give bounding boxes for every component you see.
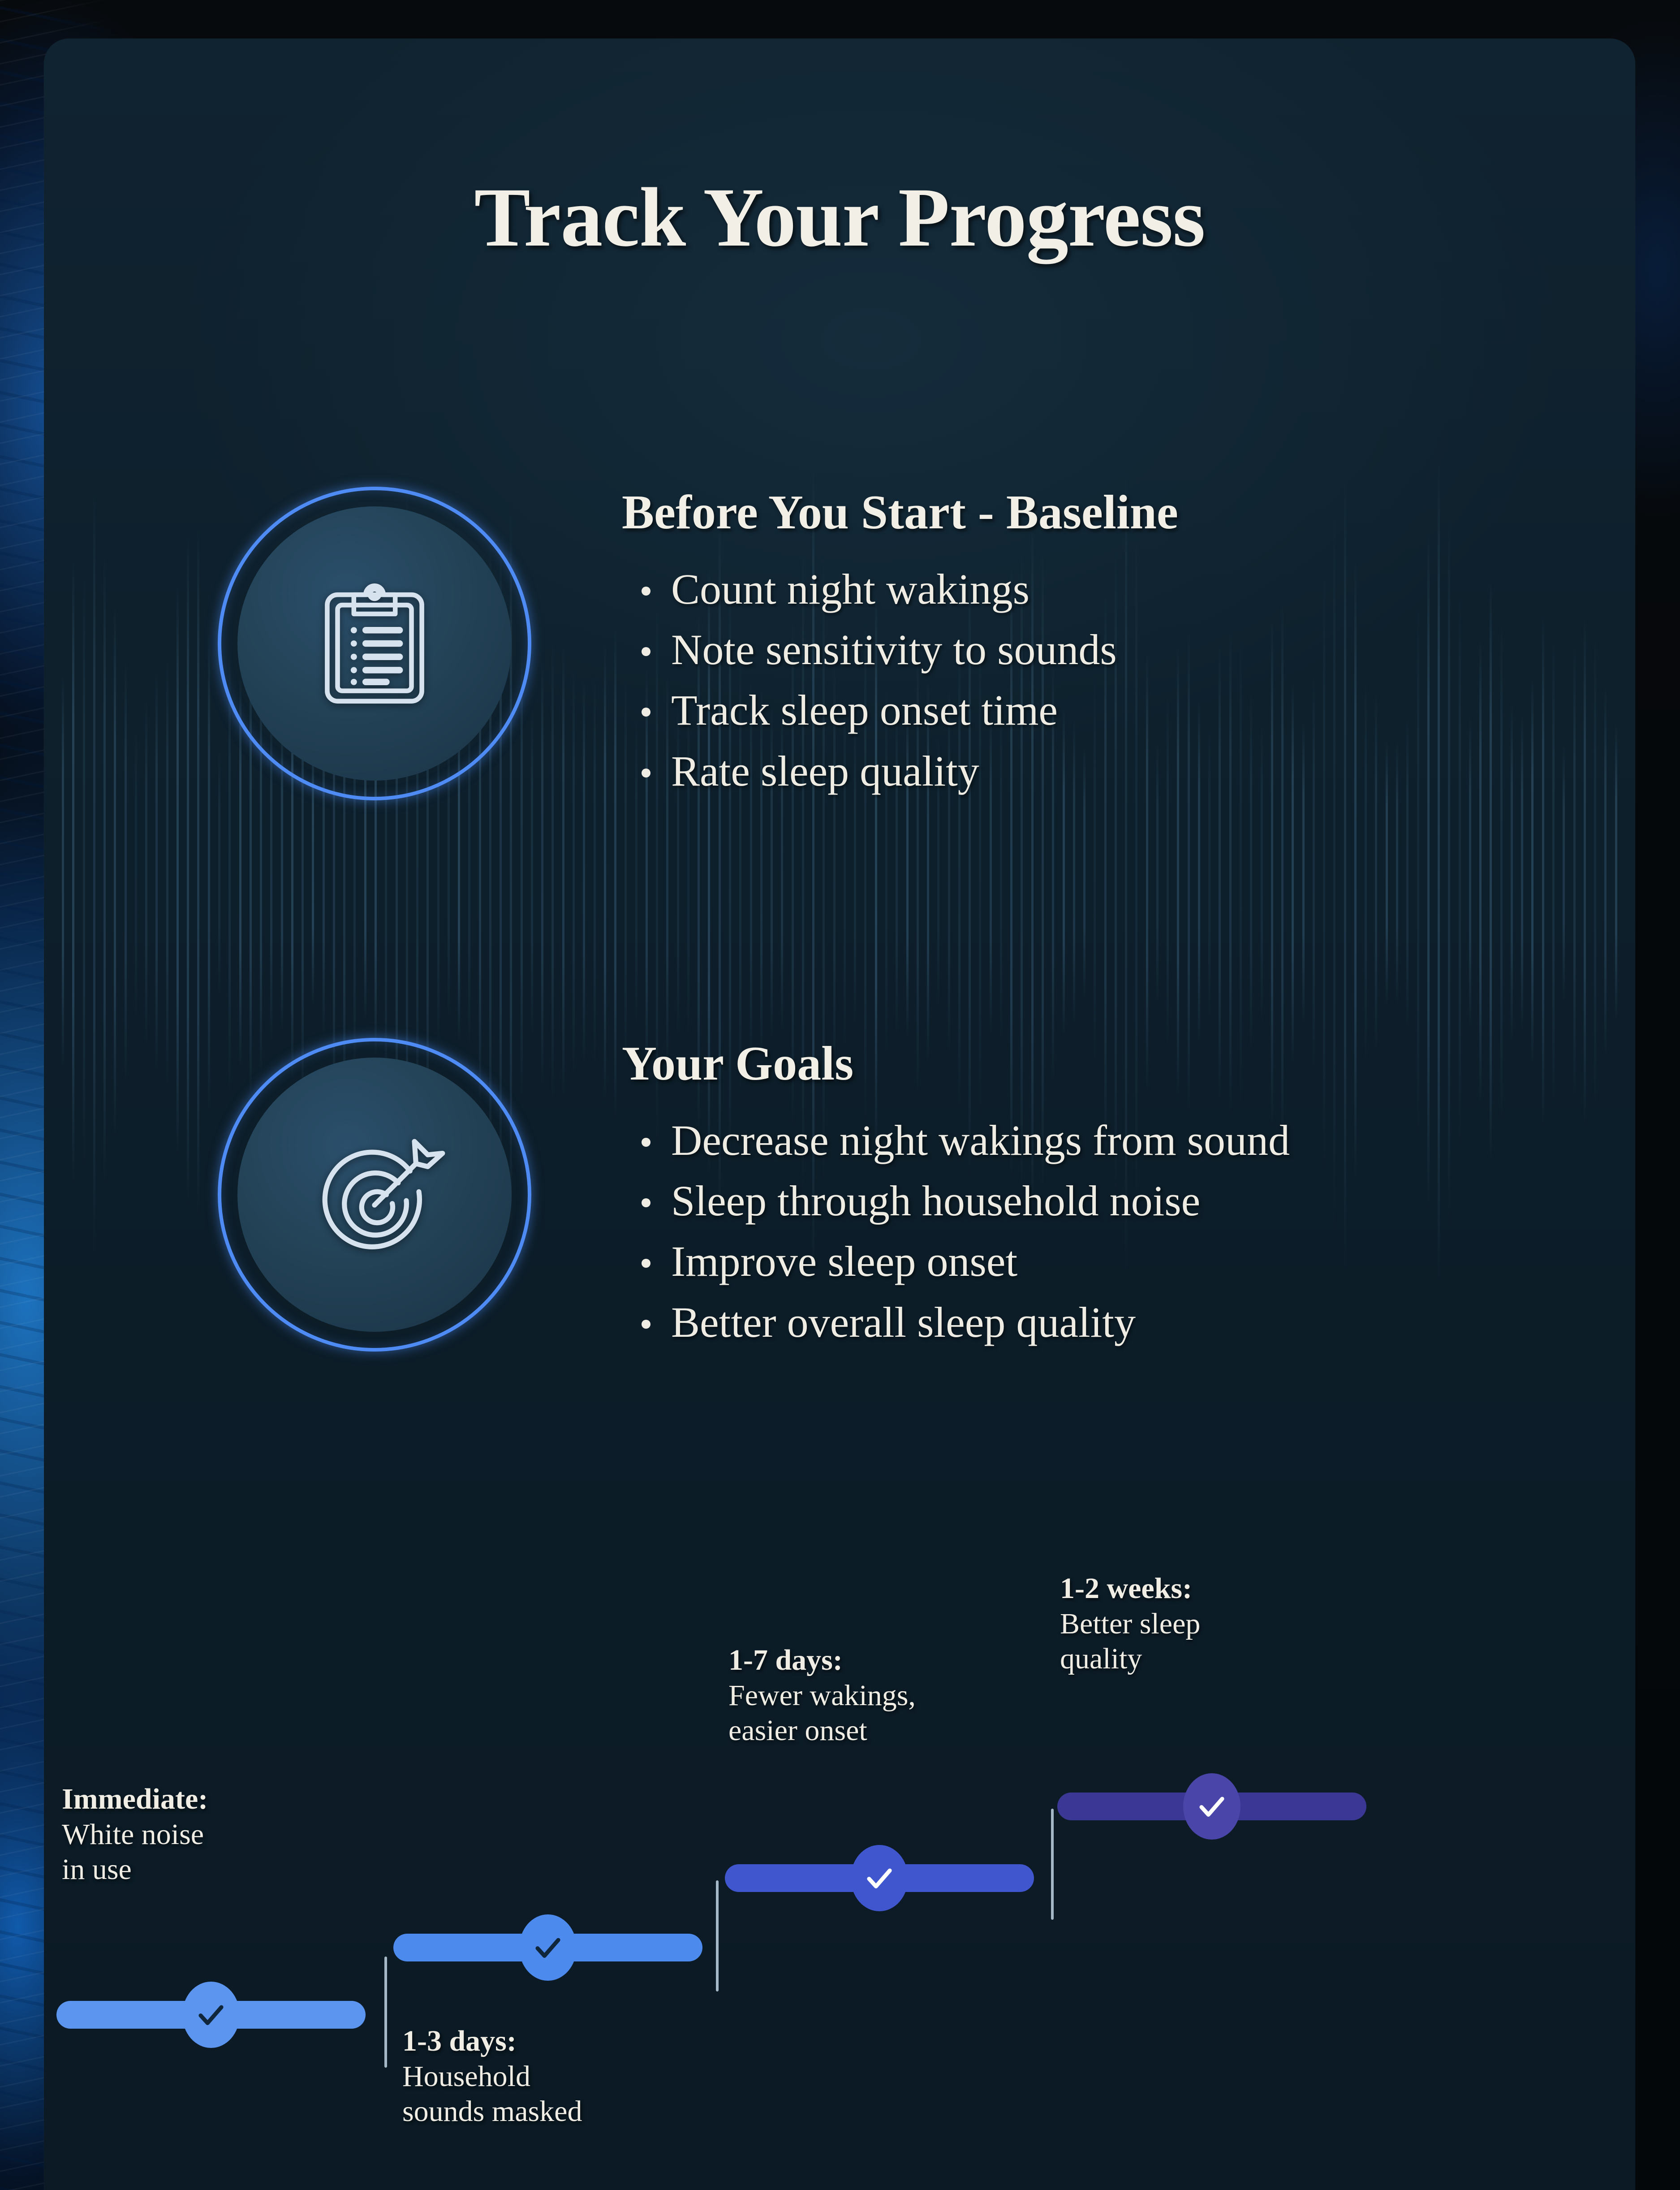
waveform-bar (125, 657, 127, 1087)
goals-icon-badge (218, 1038, 531, 1352)
progress-timeline: Immediate:White noisein use1-3 days:Hous… (44, 1495, 1635, 2078)
list-item: Rate sleep quality (622, 741, 1550, 801)
timeline-step-description: sounds masked (402, 2094, 582, 2130)
list-item: Improve sleep onset (622, 1231, 1550, 1292)
goals-heading: Your Goals (622, 1038, 1550, 1090)
waveform-bar (562, 643, 564, 1101)
waveform-bar (135, 720, 137, 1024)
list-item: Better overall sleep quality (622, 1292, 1550, 1352)
waveform-bar (1594, 630, 1596, 1114)
timeline-connector (384, 1957, 387, 2068)
timeline-step[interactable] (1057, 1773, 1366, 1840)
page-title: Track Your Progress (44, 168, 1635, 266)
check-icon (863, 1862, 896, 1895)
waveform-bar (573, 662, 575, 1082)
timeline-check-badge (182, 1982, 240, 2048)
waveform-bar (187, 532, 189, 1212)
list-item: Count night wakings (622, 559, 1550, 619)
timeline-check-badge (519, 1914, 577, 1981)
clipboard-checklist-icon (218, 487, 531, 800)
list-item: Sleep through household noise (622, 1171, 1550, 1231)
timeline-step-label: 1-7 days:Fewer wakings,easier onset (728, 1643, 916, 1749)
timeline-step[interactable] (725, 1844, 1034, 1912)
waveform-bar (114, 603, 116, 1141)
waveform-bar (594, 671, 596, 1073)
timeline-step-description: easier onset (728, 1713, 916, 1749)
list-item: Decrease night wakings from sound (622, 1110, 1550, 1171)
target-arrow-icon (218, 1038, 531, 1352)
timeline-step-term: 1-2 weeks: (1060, 1571, 1200, 1607)
timeline-step[interactable] (393, 1914, 702, 1981)
waveform-bar (1552, 636, 1555, 1108)
infographic-card: Track Your Progress (44, 39, 1635, 2190)
waveform-bar (177, 584, 179, 1160)
timeline-step-description: Household (402, 2059, 582, 2095)
timeline-step-description: in use (62, 1852, 208, 1888)
waveform-bar (604, 641, 606, 1103)
baseline-list: Count night wakings Note sensitivity to … (622, 559, 1550, 801)
timeline-step-term: 1-3 days: (402, 2024, 582, 2059)
waveform-bar (197, 523, 199, 1221)
waveform-bar (166, 654, 168, 1091)
timeline-check-badge (851, 1845, 908, 1911)
waveform-bar (208, 629, 210, 1115)
waveform-bar (72, 556, 74, 1188)
timeline-step[interactable] (56, 1981, 366, 2048)
list-item: Track sleep onset time (622, 680, 1550, 740)
waveform-bar (1563, 742, 1565, 1002)
waveform-bar (62, 673, 64, 1072)
timeline-step-label: 1-3 days:Householdsounds masked (402, 2024, 582, 2130)
waveform-bar (1615, 721, 1617, 1023)
waveform-bar (155, 667, 158, 1077)
waveform-bar (583, 677, 585, 1067)
timeline-step-description: White noise (62, 1817, 208, 1853)
timeline-step-label: 1-2 weeks:Better sleepquality (1060, 1571, 1200, 1677)
waveform-bar (145, 694, 147, 1050)
timeline-step-term: 1-7 days: (728, 1643, 916, 1678)
waveform-bar (1604, 684, 1607, 1060)
waveform-bar (551, 638, 554, 1106)
timeline-step-label: Immediate:White noisein use (62, 1782, 208, 1888)
timeline-step-term: Immediate: (62, 1782, 208, 1817)
timeline-step-description: Better sleep (1060, 1607, 1200, 1642)
infographic-page: Track Your Progress (0, 0, 1680, 2190)
timeline-connector (1051, 1809, 1054, 1920)
waveform-bar (614, 624, 616, 1120)
timeline-step-description: Fewer wakings, (728, 1678, 916, 1714)
waveform-bar (83, 570, 85, 1175)
check-icon (194, 1998, 228, 2031)
waveform-bar (1573, 641, 1576, 1103)
waveform-bar (1584, 616, 1586, 1128)
check-icon (1195, 1790, 1228, 1823)
goals-list: Decrease night wakings from sound Sleep … (622, 1110, 1550, 1352)
baseline-heading: Before You Start - Baseline (622, 487, 1550, 539)
timeline-step-description: quality (1060, 1641, 1200, 1677)
waveform-bar (541, 656, 543, 1089)
timeline-check-badge (1183, 1773, 1241, 1840)
timeline-connector (716, 1880, 719, 1991)
goals-body: Your Goals Decrease night wakings from s… (622, 1038, 1550, 1352)
check-icon (531, 1931, 564, 1964)
waveform-bar (103, 554, 106, 1190)
list-item: Note sensitivity to sounds (622, 619, 1550, 680)
waveform-bar (93, 485, 95, 1260)
baseline-icon-badge (218, 487, 531, 800)
baseline-body: Before You Start - Baseline Count night … (622, 487, 1550, 801)
